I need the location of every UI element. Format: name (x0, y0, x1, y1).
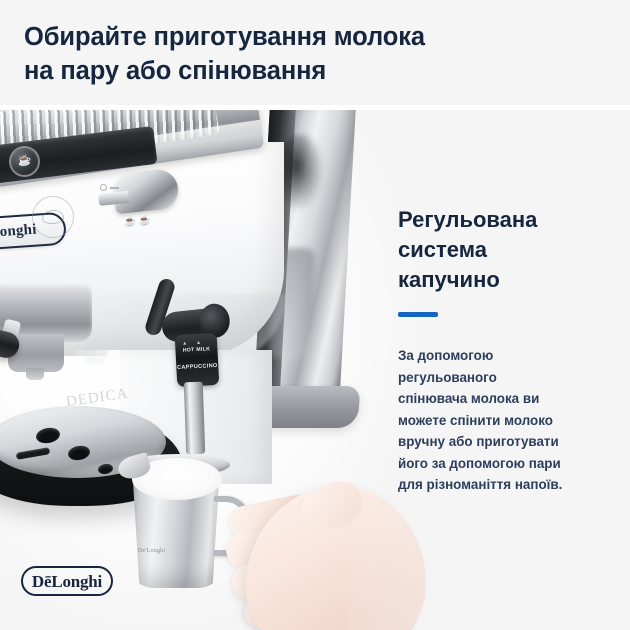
feature-panel: Регульована система капучино За допомого… (398, 205, 614, 496)
milk-pitcher: De'Longhi (128, 450, 238, 590)
hand-fade-overlay (348, 474, 548, 630)
feature-title: Регульована система капучино (398, 205, 614, 295)
header: Обирайте приготування молока на пару або… (0, 0, 630, 105)
feature-description: За допомогою регульованого спінювача мол… (398, 345, 614, 496)
product-photo-stage: ☕ ☕ De'Longhi ☕☕ DED (0, 110, 630, 630)
brand-logo: DēLonghi (21, 566, 113, 596)
knob-off-indicator-icon (100, 184, 107, 191)
frother-label-hot-milk: HOT MILK (175, 346, 217, 354)
milk-frother-collar[interactable]: ▲▲ HOT MILK CAPPUCCINO (175, 333, 220, 387)
accent-divider (398, 312, 438, 317)
hand-holding-pitcher (228, 484, 448, 630)
brand-logo-text: DēLonghi (32, 573, 102, 590)
double-cup-button[interactable]: ☕ (9, 146, 39, 176)
page-title: Обирайте приготування молока на пару або… (24, 20, 630, 88)
milk-pitcher-brand-text: De'Longhi (138, 548, 165, 554)
machine-brand-badge-text: De'Longhi (0, 222, 37, 244)
steam-mode-icons: ☕☕ (124, 215, 154, 228)
espresso-machine-image: ☕ ☕ De'Longhi ☕☕ DED (0, 110, 366, 568)
steam-wand-tube (184, 382, 206, 455)
double-cup-icon: ☕ (9, 146, 39, 176)
frother-label-cappuccino: CAPPUCCINO (176, 363, 218, 371)
portafilter-spout (26, 368, 44, 380)
promo-banner: Обирайте приготування молока на пару або… (0, 0, 630, 630)
knob-on-indicator-icon (110, 187, 119, 189)
